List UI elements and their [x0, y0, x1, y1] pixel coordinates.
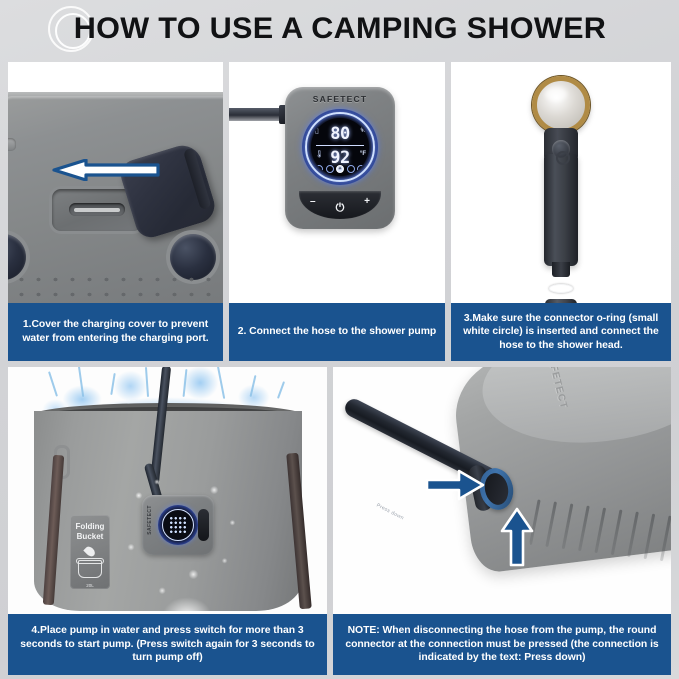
- device-body: [8, 96, 223, 303]
- steps-grid: 1.Cover the charging cover to prevent wa…: [0, 58, 679, 679]
- mode-icon-4: [347, 165, 355, 173]
- pump-side-switch[interactable]: [198, 509, 209, 541]
- submerged-pump: SAFETECT: [142, 495, 214, 555]
- step-4-photo: Folding Bucket 20L SAFETECT: [8, 367, 327, 614]
- pump-brand-label: SAFETECT: [147, 503, 153, 537]
- note-caption-text: NOTE: When disconnecting the hose from t…: [337, 624, 667, 665]
- arrow-up-icon: [497, 507, 537, 574]
- shower-head-base: [552, 262, 570, 277]
- display-face: ▯ 80 % 🌡 92 °F ✳: [311, 118, 369, 176]
- white-o-ring: [549, 284, 573, 293]
- bucket-label-line2: Bucket: [70, 532, 110, 542]
- step-2-caption-text: 2. Connect the hose to the shower pump: [233, 325, 441, 339]
- step-2-caption: 2. Connect the hose to the shower pump: [229, 303, 445, 361]
- note-panel: SAFETECT Press down: [333, 367, 671, 675]
- step-1-caption-text: 1.Cover the charging cover to prevent wa…: [12, 318, 219, 345]
- pump-vents: [523, 468, 671, 593]
- pump-display: ▯ 80 % 🌡 92 °F ✳: [302, 109, 378, 185]
- brand-label: SAFETECT: [285, 94, 395, 104]
- step-3-caption: 3.Make sure the connector o-ring (small …: [451, 303, 671, 361]
- display-top-unit: %: [361, 128, 366, 134]
- step-4-caption: 4.Place pump in water and press switch f…: [8, 614, 327, 675]
- mode-icon-2: [326, 165, 334, 173]
- shower-head-face: [532, 76, 590, 134]
- minus-button[interactable]: –: [310, 196, 316, 207]
- note-caption: NOTE: When disconnecting the hose from t…: [333, 614, 671, 675]
- plus-button[interactable]: +: [364, 196, 370, 207]
- mode-icon-5: [357, 165, 365, 173]
- screw-detail: [8, 138, 16, 151]
- water-drop-icon: [83, 545, 96, 558]
- step-4-caption-text: 4.Place pump in water and press switch f…: [12, 624, 323, 665]
- note-photo: SAFETECT Press down: [333, 367, 671, 614]
- step-panel-4: Folding Bucket 20L SAFETECT 4.Place pump…: [8, 367, 327, 675]
- step-1-caption: 1.Cover the charging cover to prevent wa…: [8, 303, 223, 361]
- step-panel-1: 1.Cover the charging cover to prevent wa…: [8, 62, 223, 361]
- step-1-photo: [8, 62, 223, 303]
- display-bottom-unit: °F: [360, 151, 366, 157]
- arrow-right-icon: [425, 465, 487, 510]
- step-panel-2: SAFETECT ▯ 80 % 🌡 92 °F: [229, 62, 445, 361]
- mode-icon-1: [315, 165, 323, 173]
- page-header: HOW TO USE A CAMPING SHOWER: [0, 0, 679, 58]
- display-divider: [316, 145, 364, 146]
- pump-display-dots: [169, 516, 187, 534]
- display-top-value: 80: [311, 124, 369, 144]
- step-3-caption-text: 3.Make sure the connector o-ring (small …: [455, 312, 667, 353]
- display-mode-icons: ✳: [311, 165, 369, 173]
- shower-pump-device: SAFETECT ▯ 80 % 🌡 92 °F: [285, 87, 395, 229]
- shower-head-switch: [552, 140, 570, 158]
- water-jet: [158, 570, 216, 614]
- grip-dot-texture: [8, 272, 223, 303]
- pump-display-small: [158, 505, 198, 545]
- page-title: HOW TO USE A CAMPING SHOWER: [73, 12, 605, 46]
- step-2-photo: SAFETECT ▯ 80 % 🌡 92 °F: [229, 62, 445, 303]
- shower-head-handle: [544, 154, 578, 266]
- step-3-photo: [451, 62, 671, 303]
- pump-button-bar[interactable]: – ⏻ +: [299, 191, 381, 219]
- bucket-label: Folding Bucket 20L: [70, 515, 110, 589]
- power-button[interactable]: ⏻: [336, 202, 345, 215]
- bucket-icon: [78, 560, 102, 578]
- bucket-volume: 20L: [70, 583, 110, 588]
- left-arrow-icon: [50, 159, 160, 181]
- bucket-label-line1: Folding: [70, 522, 110, 532]
- mode-icon-3-active: ✳: [336, 165, 344, 173]
- step-panel-3: 3.Make sure the connector o-ring (small …: [451, 62, 671, 361]
